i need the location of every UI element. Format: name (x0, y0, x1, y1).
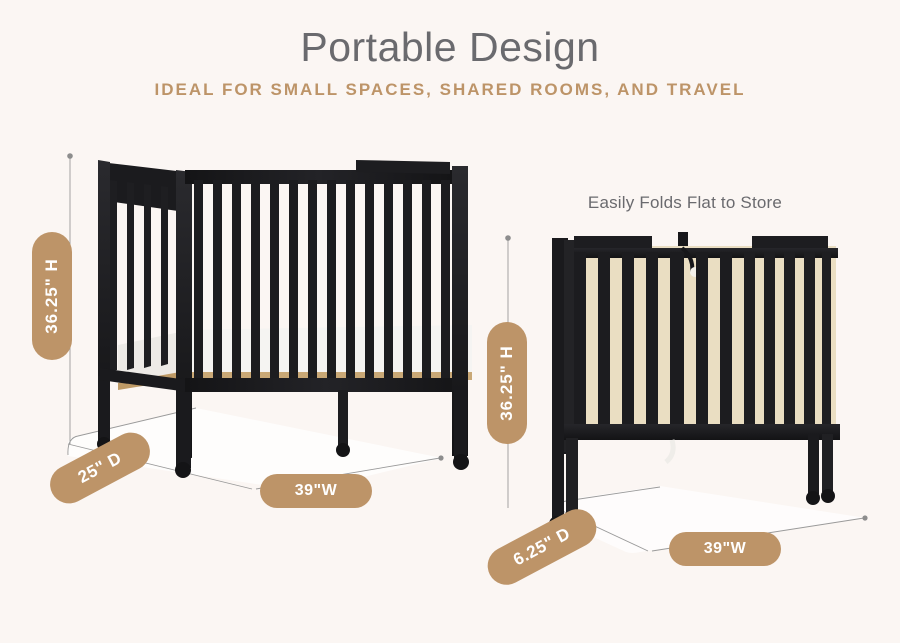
crib-leg-front-left (176, 380, 191, 468)
folded-wheel-4 (821, 489, 835, 503)
crib-wheel-back-right (336, 443, 350, 457)
folded-top-rail-left (574, 236, 652, 250)
folded-side-frame-inner (564, 240, 574, 452)
dimension-badge-height-right: 36.25" H (487, 322, 527, 444)
crib-wheel-front-right (453, 454, 469, 470)
crib-leg-back-left (98, 376, 110, 442)
crib-front-top-riser (356, 160, 450, 174)
folded-leg-right-2 (822, 434, 833, 492)
dimension-badge-width-left-label: 39"W (295, 482, 337, 500)
folded-leg-right-1 (808, 434, 819, 494)
dimension-badge-width-right-label: 39"W (704, 540, 746, 558)
crib-leg-back-right (338, 390, 348, 448)
folded-leg-left-1 (552, 438, 564, 520)
infographic-canvas: Portable Design IDEAL FOR SMALL SPACES, … (0, 0, 900, 643)
folded-strap (666, 440, 673, 462)
dimension-badge-width-right: 39"W (669, 532, 781, 566)
folded-wheel-3 (806, 491, 820, 505)
height-guide-dot-right (505, 235, 511, 241)
crib-wheel-front-left (175, 462, 191, 478)
dimension-badge-height-left-label: 36.25" H (42, 258, 62, 334)
dimension-badge-height-left: 36.25" H (32, 232, 72, 360)
crib-leg-front-right (454, 390, 467, 460)
height-guide-dot-left (67, 153, 73, 159)
folded-leg-left-2 (566, 438, 578, 516)
dimension-badge-width-left: 39"W (260, 474, 372, 508)
crib-folded-illustration (530, 228, 870, 538)
center-hinge-bracket (678, 232, 688, 246)
dimension-badge-height-right-label: 36.25" H (497, 345, 517, 421)
folded-top-rail-right (752, 236, 828, 250)
crib-front-bottom-rail (185, 378, 467, 392)
folded-bottom-rail (564, 424, 840, 440)
